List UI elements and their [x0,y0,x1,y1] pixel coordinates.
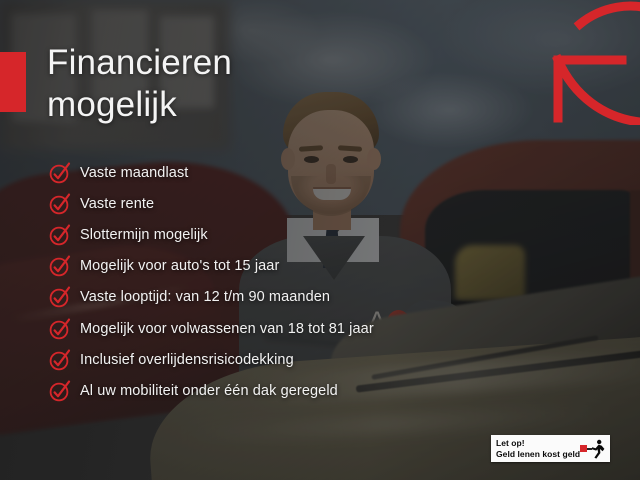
list-item: Mogelijk voor volwassenen van 18 tot 81 … [48,313,608,344]
red-marker-icon [580,445,587,452]
list-item-label: Vaste maandlast [80,165,188,181]
red-arc-arrow-logo [540,0,640,125]
check-circle-icon [48,254,72,278]
check-circle-icon [48,317,72,341]
disclaimer-badge: Let op! Geld lenen kost geld [491,435,610,462]
list-item: Inclusief overlijdensrisicodekking [48,344,608,375]
red-accent-square [0,52,26,112]
list-item-label: Mogelijk voor auto's tot 15 jaar [80,258,279,274]
check-circle-icon [48,379,72,403]
disclaimer-icons [580,439,606,459]
check-circle-icon [48,161,72,185]
check-circle-icon [48,192,72,216]
list-item-label: Mogelijk voor volwassenen van 18 tot 81 … [80,321,374,337]
check-circle-icon [48,223,72,247]
check-circle-icon [48,348,72,372]
list-item-label: Slottermijn mogelijk [80,227,208,243]
list-item: Vaste rente [48,188,608,219]
list-item-label: Vaste rente [80,196,154,212]
title-line-2: mogelijk [47,84,467,126]
page-title: Financieren mogelijk [47,42,467,126]
feature-list: Vaste maandlast Vaste rente Slottermijn … [48,157,608,407]
list-item: Slottermijn mogelijk [48,219,608,250]
list-item-label: Al uw mobiliteit onder één dak geregeld [80,383,338,399]
list-item-label: Vaste looptijd: van 12 t/m 90 maanden [80,289,330,305]
title-line-1: Financieren [47,42,467,84]
list-item: Vaste looptijd: van 12 t/m 90 maanden [48,282,608,313]
check-circle-icon [48,285,72,309]
list-item: Vaste maandlast [48,157,608,188]
list-item: Al uw mobiliteit onder één dak geregeld [48,375,608,406]
list-item-label: Inclusief overlijdensrisicodekking [80,352,294,368]
disclaimer-line-1: Let op! [496,438,580,449]
promo-slide: A Financieren mogelijk [0,0,640,480]
disclaimer-text: Let op! Geld lenen kost geld [496,438,580,459]
disclaimer-line-2: Geld lenen kost geld [496,449,580,460]
list-item: Mogelijk voor auto's tot 15 jaar [48,251,608,282]
